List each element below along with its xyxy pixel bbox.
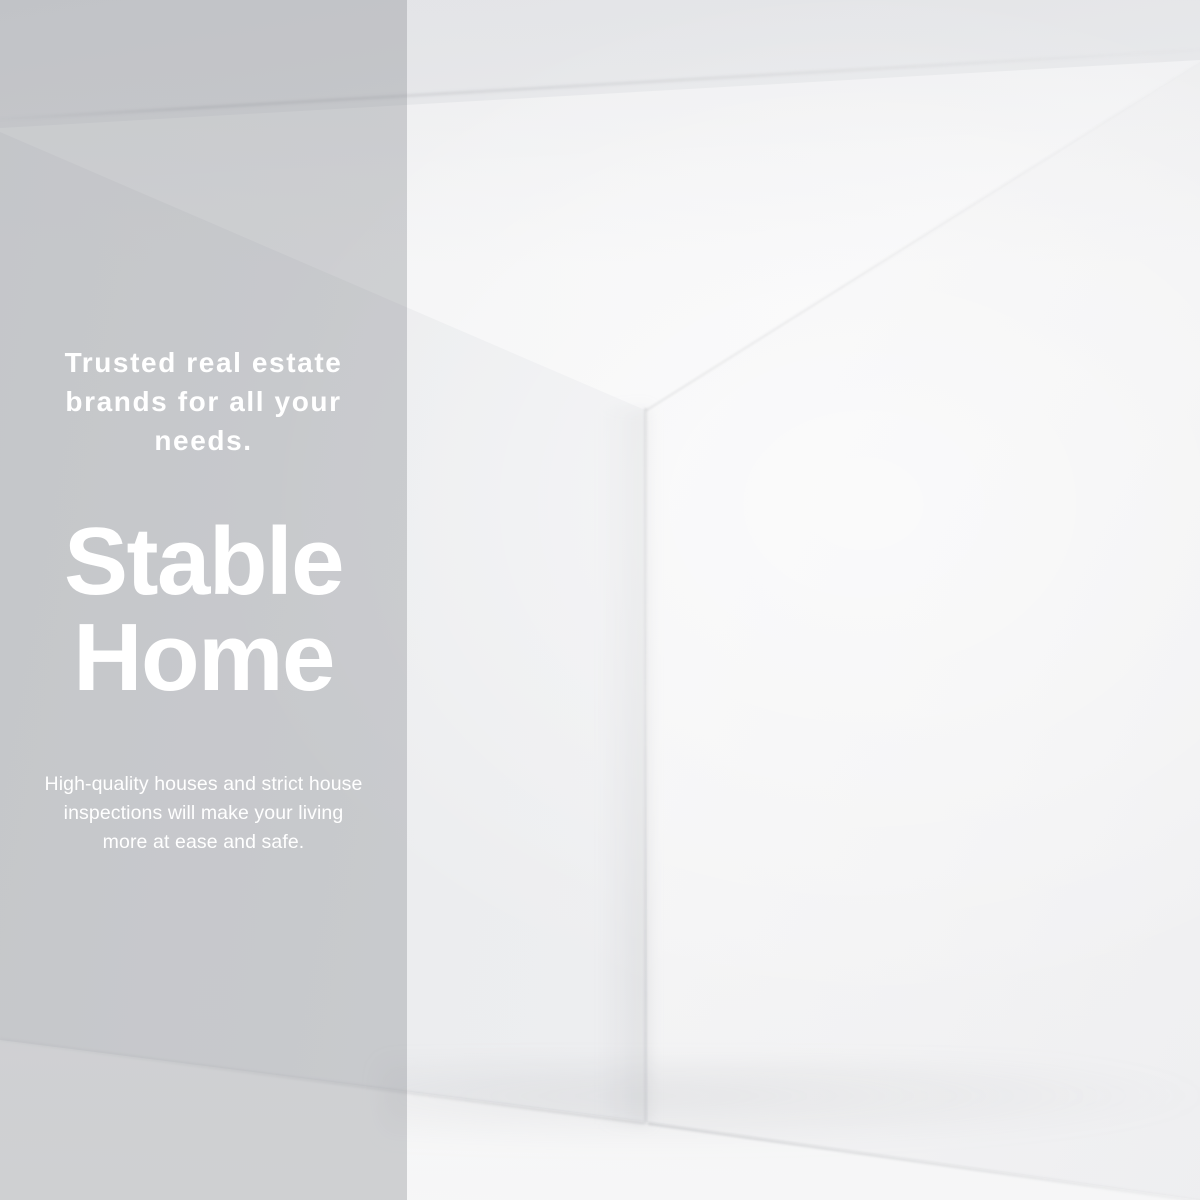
- eyebrow-tagline: Trusted real estate brands for all your …: [38, 343, 369, 460]
- page-title: Stable Home: [38, 514, 369, 706]
- floor-ambient-shadow: [380, 1060, 1200, 1150]
- partition-shadow: [600, 408, 650, 1124]
- partition-corner-edge: [644, 408, 647, 1124]
- poster-canvas: Trusted real estate brands for all your …: [0, 0, 1200, 1200]
- text-content-block: Trusted real estate brands for all your …: [0, 0, 407, 1200]
- subcopy-paragraph: High-quality houses and strict house ins…: [44, 770, 364, 857]
